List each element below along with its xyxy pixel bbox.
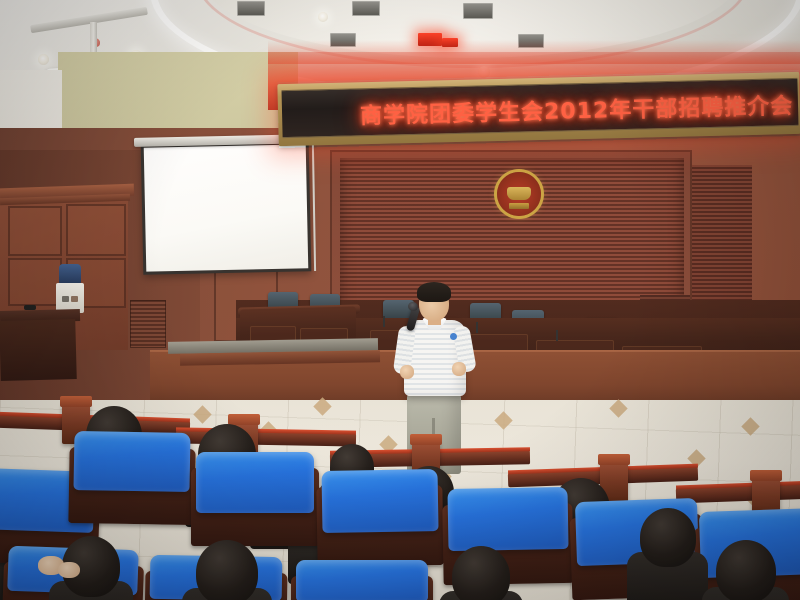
railing-post-cap (410, 434, 442, 445)
national-emblem-base (509, 203, 529, 209)
projection-screen-surface (144, 144, 309, 271)
audience-hands (58, 562, 80, 578)
audience-person-head (716, 540, 776, 600)
ceiling-spotlight (318, 12, 328, 22)
audience-person-head (640, 508, 696, 567)
railing-post-cap (750, 470, 782, 481)
railing-post-cap (598, 454, 630, 465)
ceiling-vent (463, 3, 493, 19)
audience-seat (296, 560, 428, 600)
ceiling-vent (237, 1, 265, 16)
water-cooler-bottle (59, 264, 81, 284)
audience-person-head (452, 546, 510, 600)
auditorium-photo: 商学院团委学生会2012年干部招聘推介会 (0, 0, 800, 600)
led-banner-text: 商学院团委学生会2012年干部招聘推介会 (360, 88, 794, 130)
water-cooler-tap-hot[interactable] (71, 296, 78, 302)
speaker-hair (417, 282, 451, 302)
desk-microphone (476, 322, 478, 333)
national-emblem-gate (507, 187, 531, 200)
side-desk-body (0, 319, 77, 381)
desk-microphone (556, 330, 558, 341)
speaker-right-hand (452, 362, 466, 376)
wall-panel-inset (8, 206, 62, 256)
desk-object (24, 305, 36, 310)
audience-seat (73, 431, 190, 492)
audience-seat (447, 487, 568, 551)
audience-seat (321, 469, 438, 533)
speaker-left-hand (400, 365, 414, 379)
wall-panel-inset (66, 204, 126, 256)
ceiling-spotlight (38, 54, 49, 65)
wall-panel-inset (8, 258, 62, 306)
speaker-shirt-logo (450, 333, 457, 340)
railing-post-cap (228, 414, 260, 425)
audience-seat (196, 452, 314, 513)
ceiling-vent (352, 1, 380, 16)
water-cooler-tap[interactable] (62, 296, 69, 302)
railing-post-cap (60, 396, 92, 407)
audience-person-head (196, 540, 258, 600)
wall-vent-grille (130, 300, 166, 348)
desk-microphone (383, 316, 385, 327)
